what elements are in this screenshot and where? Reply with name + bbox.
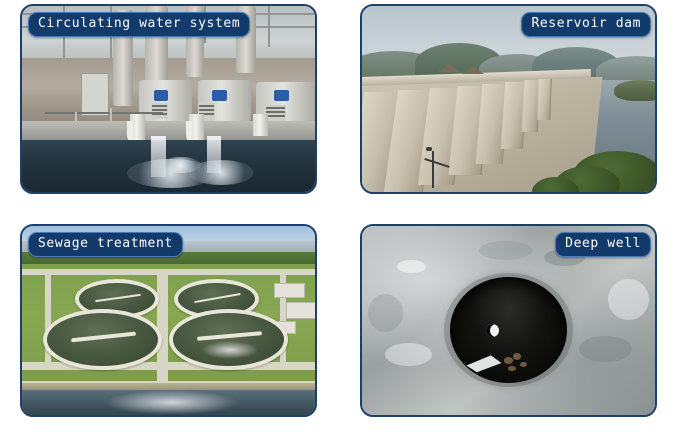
image-gallery-grid: Circulating water system <box>0 0 680 435</box>
gallery-panel-circulating-water-system[interactable]: Circulating water system <box>20 4 317 194</box>
panel-label-sewage-treatment: Sewage treatment <box>28 232 183 257</box>
gallery-panel-reservoir-dam[interactable]: Reservoir dam <box>360 4 657 194</box>
panel-label-deep-well: Deep well <box>555 232 651 257</box>
gallery-panel-sewage-treatment[interactable]: Sewage treatment <box>20 224 317 417</box>
panel-label-reservoir-dam: Reservoir dam <box>521 12 651 37</box>
gallery-panel-deep-well[interactable]: Deep well <box>360 224 657 417</box>
panel-label-circulating-water-system: Circulating water system <box>28 12 250 37</box>
